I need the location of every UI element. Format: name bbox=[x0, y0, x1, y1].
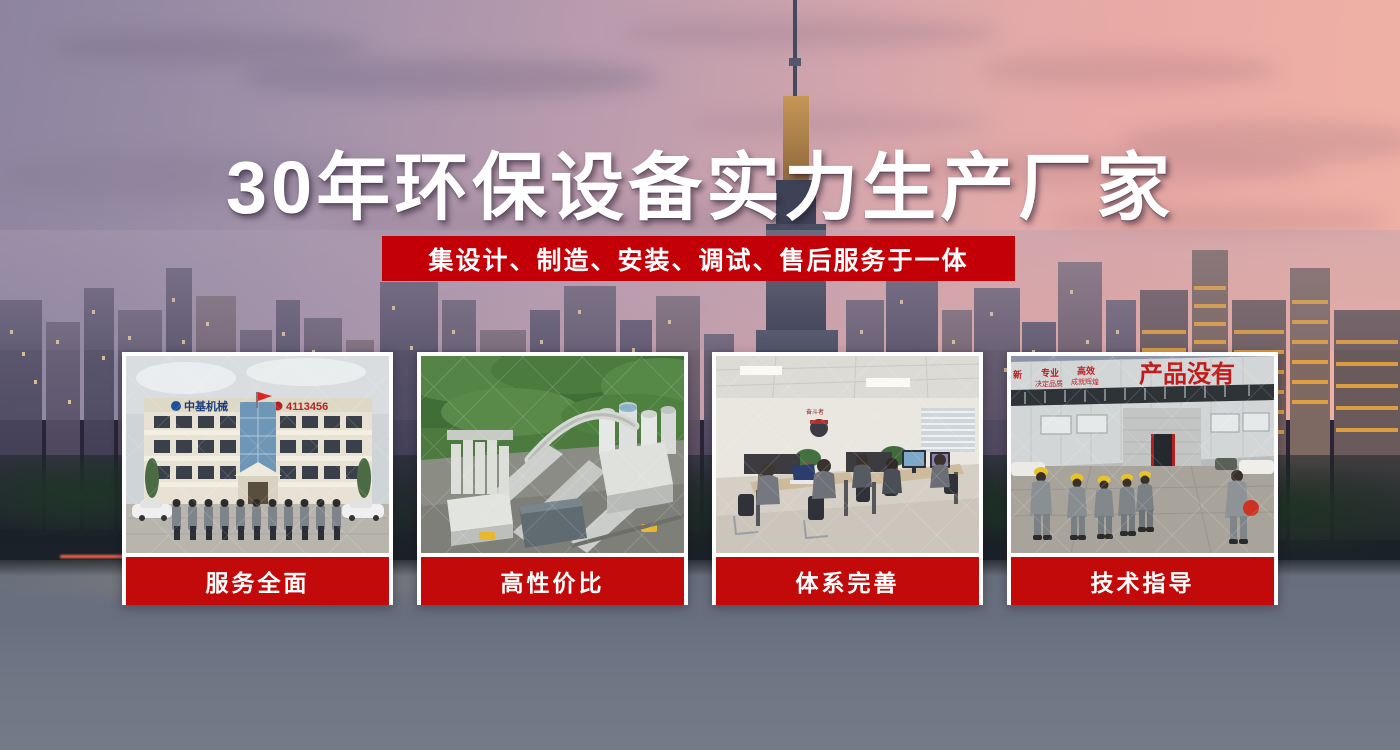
card-label: 高性价比 bbox=[421, 557, 684, 605]
watermark-overlay bbox=[1011, 356, 1274, 553]
feature-card[interactable]: 中基机械 4113456 bbox=[122, 352, 393, 605]
card-label: 技术指导 bbox=[1011, 557, 1274, 605]
card-thumbnail-industrial-plant bbox=[421, 356, 684, 553]
card-thumbnail-office-interior: 奋斗者 bbox=[716, 356, 979, 553]
watermark-overlay bbox=[126, 356, 389, 553]
feature-card[interactable]: 产品没有 专业 决定品质 高效 成就辉煌 新 bbox=[1007, 352, 1278, 605]
card-thumbnail-company-headquarters: 中基机械 4113456 bbox=[126, 356, 389, 553]
card-label: 体系完善 bbox=[716, 557, 979, 605]
subtitle-text: 集设计、制造、安装、调试、售后服务于一体 bbox=[428, 241, 968, 277]
feature-card[interactable]: 奋斗者 bbox=[712, 352, 983, 605]
hero-banner: 30年环保设备实力生产厂家 集设计、制造、安装、调试、售后服务于一体 中基机械 … bbox=[0, 0, 1400, 750]
card-thumbnail-workers-lineup: 产品没有 专业 决定品质 高效 成就辉煌 新 bbox=[1011, 356, 1274, 553]
subtitle-banner: 集设计、制造、安装、调试、售后服务于一体 bbox=[382, 236, 1015, 281]
watermark-overlay bbox=[421, 356, 684, 553]
card-label: 服务全面 bbox=[126, 557, 389, 605]
page-title: 30年环保设备实力生产厂家 bbox=[0, 128, 1400, 235]
feature-card-list: 中基机械 4113456 bbox=[122, 352, 1278, 605]
feature-card[interactable]: 高性价比 bbox=[417, 352, 688, 605]
shore-light bbox=[60, 555, 130, 558]
watermark-overlay bbox=[716, 356, 979, 553]
